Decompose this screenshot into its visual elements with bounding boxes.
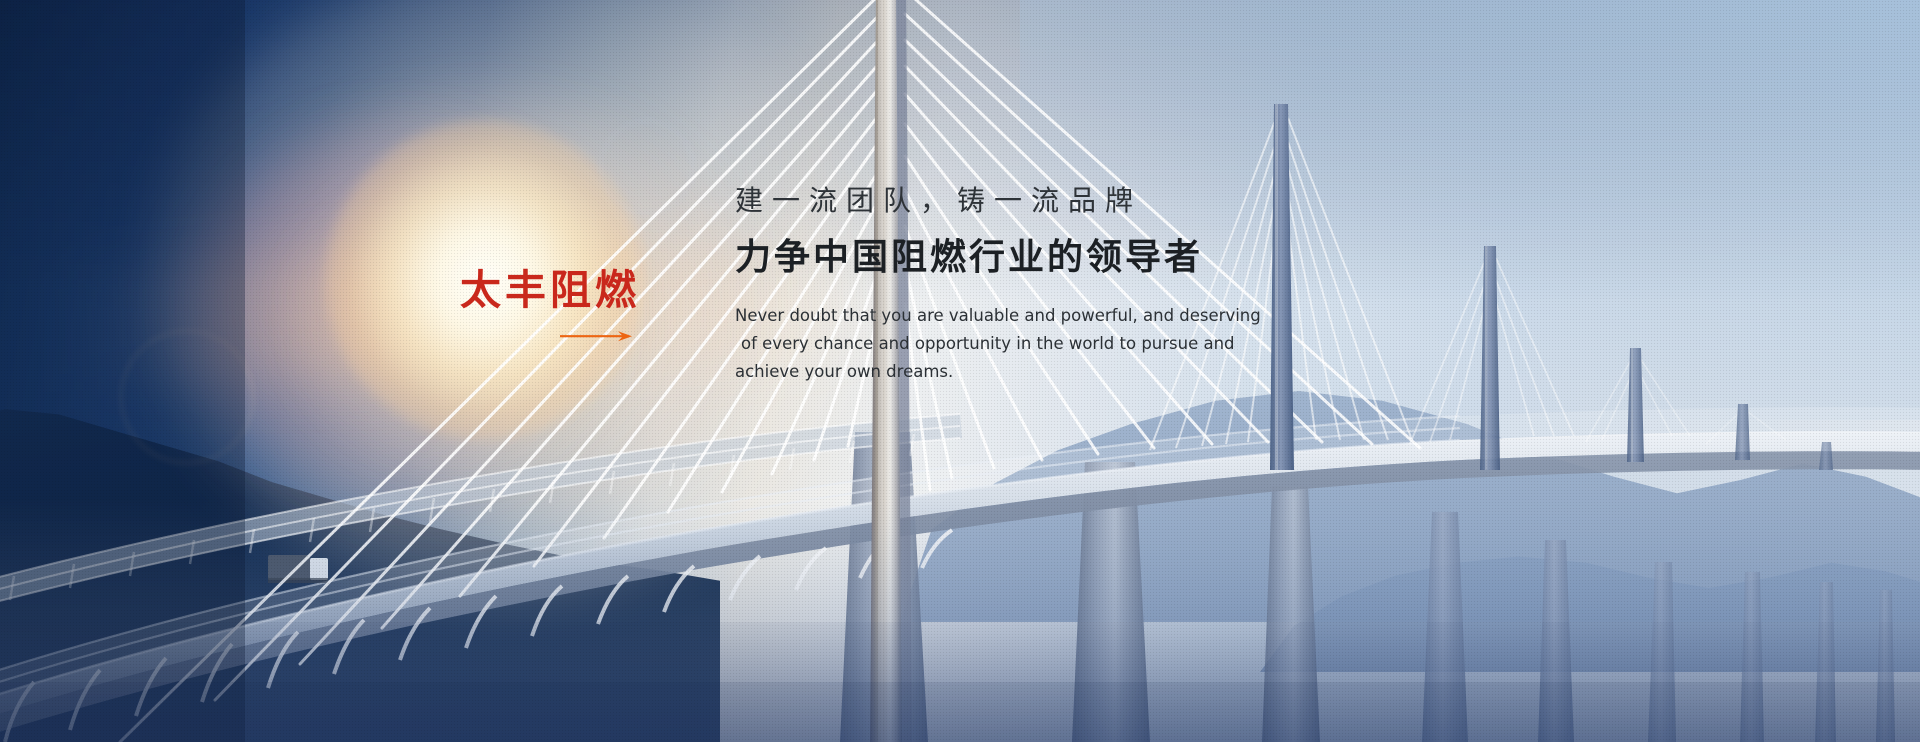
banner-content: 太丰阻燃 建一流团队，铸一流品牌 力争中国阻燃行业的领导者 Never doub… <box>0 0 1920 742</box>
paragraph-line-3: achieve your own dreams. <box>735 358 1307 386</box>
headline-subtitle: 建一流团队，铸一流品牌 <box>735 186 1355 218</box>
hero-banner: 太丰阻燃 建一流团队，铸一流品牌 力争中国阻燃行业的领导者 Never doub… <box>0 0 1920 742</box>
paragraph-line-1: Never doubt that you are valuable and po… <box>735 302 1307 330</box>
banner-paragraph: Never doubt that you are valuable and po… <box>735 302 1307 386</box>
brand-logo-text: 太丰阻燃 <box>460 268 660 312</box>
arrow-right-icon <box>560 330 634 342</box>
brand-logo[interactable]: 太丰阻燃 <box>460 268 660 312</box>
headline-title: 力争中国阻燃行业的领导者 <box>735 238 1355 278</box>
paragraph-line-2: of every chance and opportunity in the w… <box>735 330 1307 358</box>
banner-copy: 建一流团队，铸一流品牌 力争中国阻燃行业的领导者 Never doubt tha… <box>735 186 1355 386</box>
